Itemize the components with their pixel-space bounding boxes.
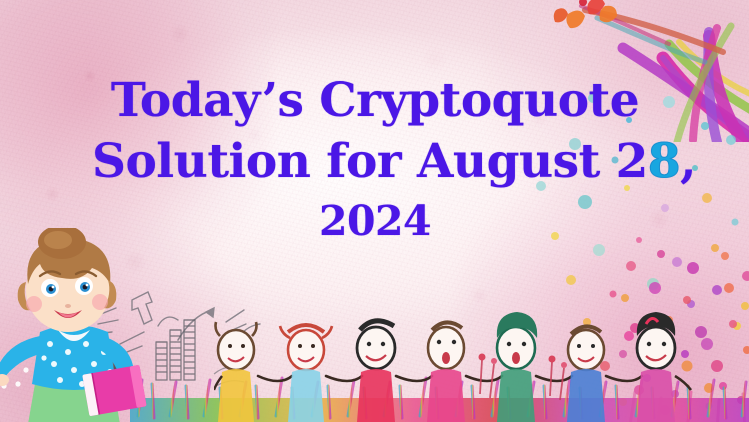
banner-canvas: Today’s Cryptoquote Solution for August … — [0, 0, 749, 422]
cartoon-schoolgirl-icon — [0, 228, 174, 422]
